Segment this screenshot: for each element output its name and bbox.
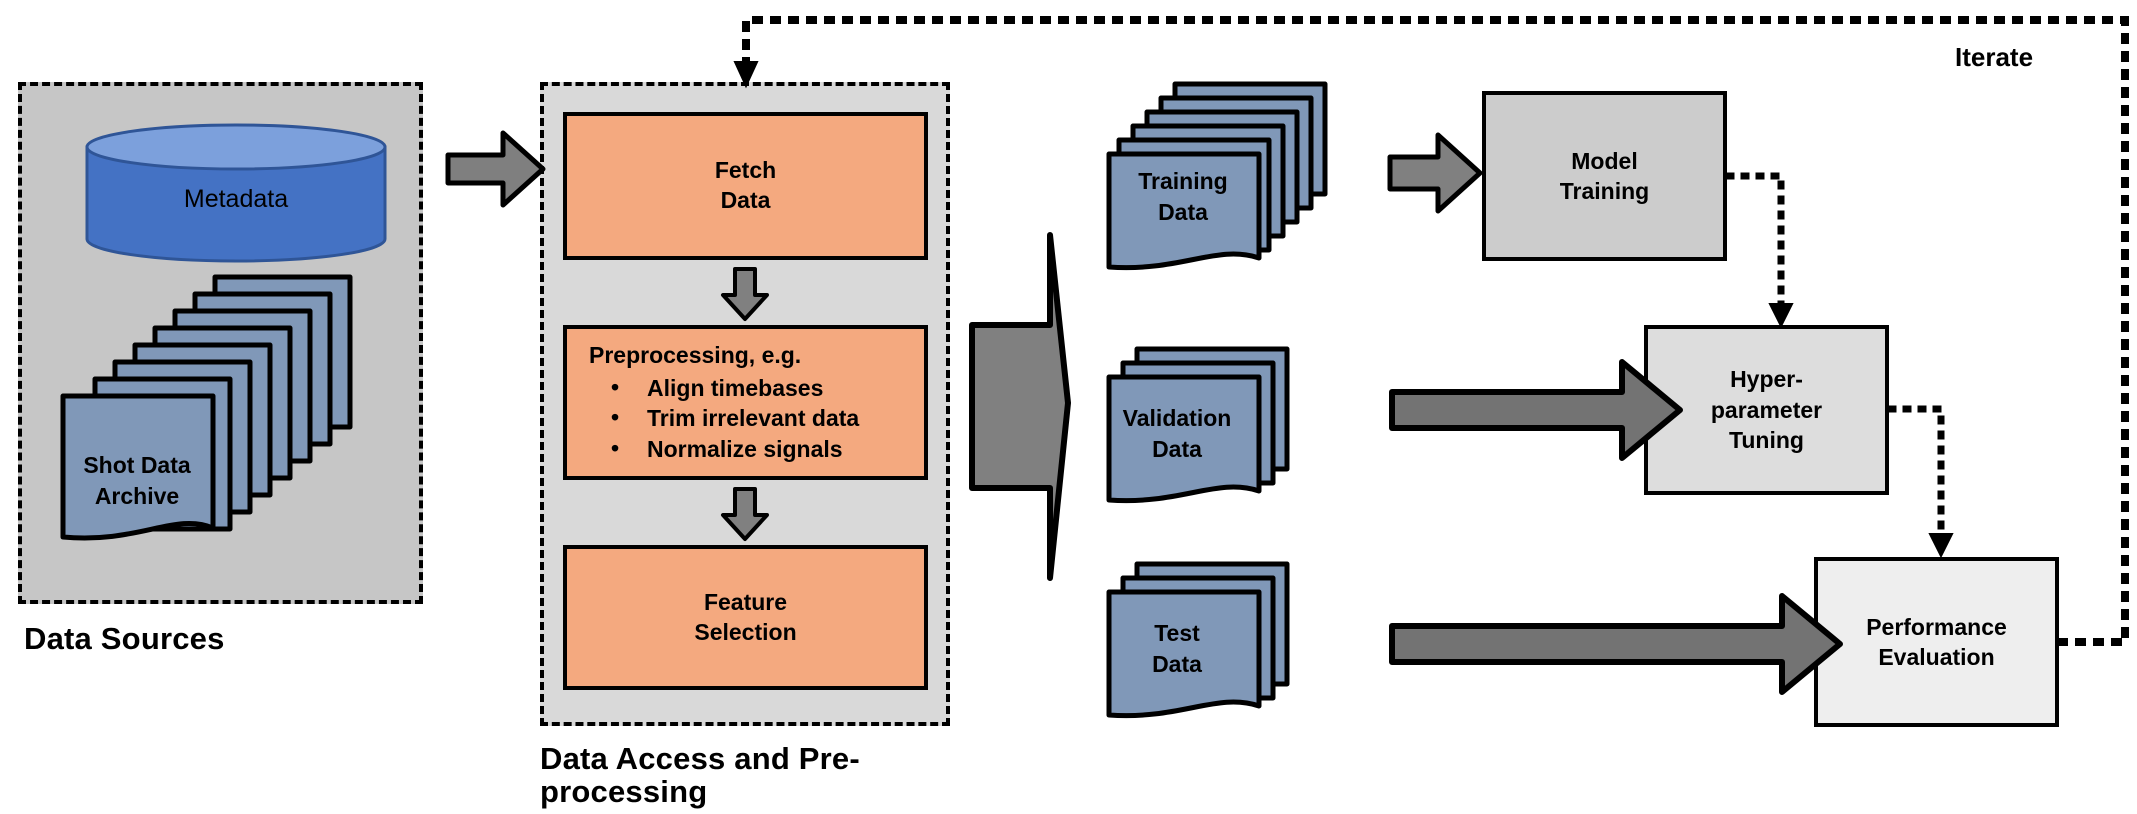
arrow-validation-to-hyperparameter-tuning <box>1392 362 1680 458</box>
preprocessing-bullet: Trim irrelevant data <box>589 403 924 434</box>
process-fetch-data[interactable]: Fetch Data <box>563 112 928 260</box>
fetch-data-line2: Data <box>715 186 776 216</box>
shot-data-archive-stack: Shot Data Archive <box>55 272 355 547</box>
iterate-label: Iterate <box>1955 42 2033 73</box>
process-model-training[interactable]: Model Training <box>1482 91 1727 261</box>
preprocessing-bullet: Align timebases <box>589 373 924 404</box>
arrow-preprocessing-to-datasets <box>972 235 1068 578</box>
archive-stack-shape <box>55 272 355 547</box>
preprocessing-bullet-list: Align timebases Trim irrelevant data Nor… <box>589 373 924 465</box>
down-arrow-icon <box>717 486 773 542</box>
preprocessing-group-label: Data Access and Pre-processing <box>540 742 940 809</box>
data-sources-group-label: Data Sources <box>24 622 424 655</box>
process-preprocessing[interactable]: Preprocessing, e.g. Align timebases Trim… <box>563 325 928 480</box>
process-hyperparameter-tuning[interactable]: Hyper- parameter Tuning <box>1644 325 1889 495</box>
dotted-hyperparameter-to-performance <box>1891 409 1952 556</box>
validation-stack-shape <box>1105 345 1365 515</box>
validation-data-stack: Validation Data <box>1105 345 1365 515</box>
metadata-label: Metadata <box>85 185 387 214</box>
test-stack-shape <box>1105 560 1365 730</box>
arrow-training-to-model-training <box>1390 135 1480 211</box>
process-feature-selection[interactable]: Feature Selection <box>563 545 928 690</box>
down-arrow-icon <box>717 266 773 322</box>
test-data-stack: Test Data <box>1105 560 1365 730</box>
preprocessing-bullet: Normalize signals <box>589 434 924 465</box>
diagram-canvas: Metadata Shot Data Archive Data Sources … <box>0 0 2137 814</box>
feature-selection-line2: Selection <box>694 618 796 648</box>
fetch-data-line1: Fetch <box>715 156 776 186</box>
arrow-sources-to-preprocessing <box>448 133 543 205</box>
arrow-test-to-performance-evaluation <box>1392 596 1840 692</box>
training-data-stack: Training Data <box>1105 80 1365 275</box>
training-stack-shape <box>1105 80 1365 275</box>
process-performance-evaluation[interactable]: Performance Evaluation <box>1814 557 2059 727</box>
preprocessing-heading: Preprocessing, e.g. <box>589 341 924 371</box>
feature-selection-line1: Feature <box>694 588 796 618</box>
dotted-model-training-to-hyperparameter <box>1729 176 1792 326</box>
metadata-cylinder: Metadata <box>85 123 387 263</box>
